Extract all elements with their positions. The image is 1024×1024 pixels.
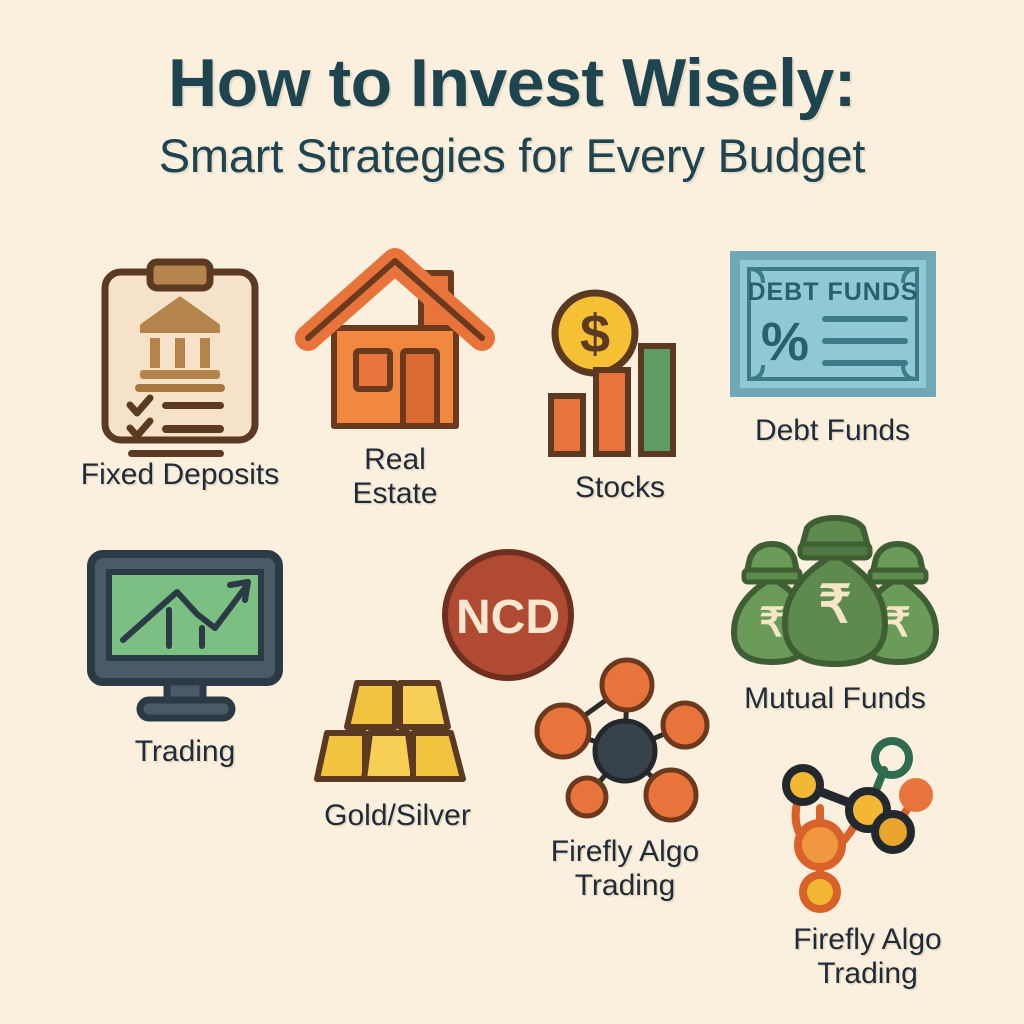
item-firefly-algo-trading-1[interactable]: Firefly Algo Trading [510,655,740,902]
gold-bars-icon [290,675,505,787]
clipboard-bank-icon [40,250,320,450]
item-label-mutual-funds: Mutual Funds [700,682,970,716]
svg-text:$: $ [579,304,609,364]
svg-text:₹: ₹ [885,601,910,645]
item-label-firefly-algo-trading-1: Firefly Algo Trading [510,835,740,902]
house-icon [285,248,505,433]
percent-symbol: % [760,312,808,372]
item-gold-silver[interactable]: Gold/Silver [290,675,505,833]
page-title: How to Invest Wisely: [0,48,1024,119]
svg-text:₹: ₹ [759,601,784,645]
infographic-poster: How to Invest Wisely: Smart Strategies f… [0,0,1024,1024]
item-label-stocks: Stocks [520,471,720,505]
item-real-estate[interactable]: Real Estate [285,248,505,510]
item-debt-funds[interactable]: DEBT FUNDS % Debt Funds [700,248,965,448]
network-hub-icon [510,655,740,825]
ncd-badge-text: NCD [456,591,560,644]
network-graph-icon [735,740,1000,915]
item-firefly-algo-trading-2[interactable]: Firefly Algo Trading [735,740,1000,990]
item-label-fixed-deposits: Fixed Deposits [40,458,320,492]
item-stocks[interactable]: $ Stocks [520,288,720,505]
item-label-real-estate: Real Estate [285,443,505,510]
monitor-chart-icon [60,548,310,723]
bar-chart-coin-icon: $ [520,288,720,463]
item-mutual-funds[interactable]: ₹ ₹ ₹ Mutual Funds [700,518,970,716]
page-subtitle: Smart Strategies for Every Budget [0,131,1024,181]
certificate-icon: DEBT FUNDS % [700,248,965,400]
heading-block: How to Invest Wisely: Smart Strategies f… [0,48,1024,181]
item-label-debt-funds: Debt Funds [700,414,965,448]
item-label-gold-silver: Gold/Silver [290,799,505,833]
item-label-trading: Trading [60,735,310,769]
item-label-firefly-algo-trading-2: Firefly Algo Trading [735,923,1000,990]
item-trading[interactable]: Trading [60,548,310,769]
certificate-text: DEBT FUNDS [747,278,918,306]
svg-text:₹: ₹ [818,576,851,634]
item-fixed-deposits[interactable]: Fixed Deposits [40,250,320,492]
money-bags-icon: ₹ ₹ ₹ [700,518,970,668]
